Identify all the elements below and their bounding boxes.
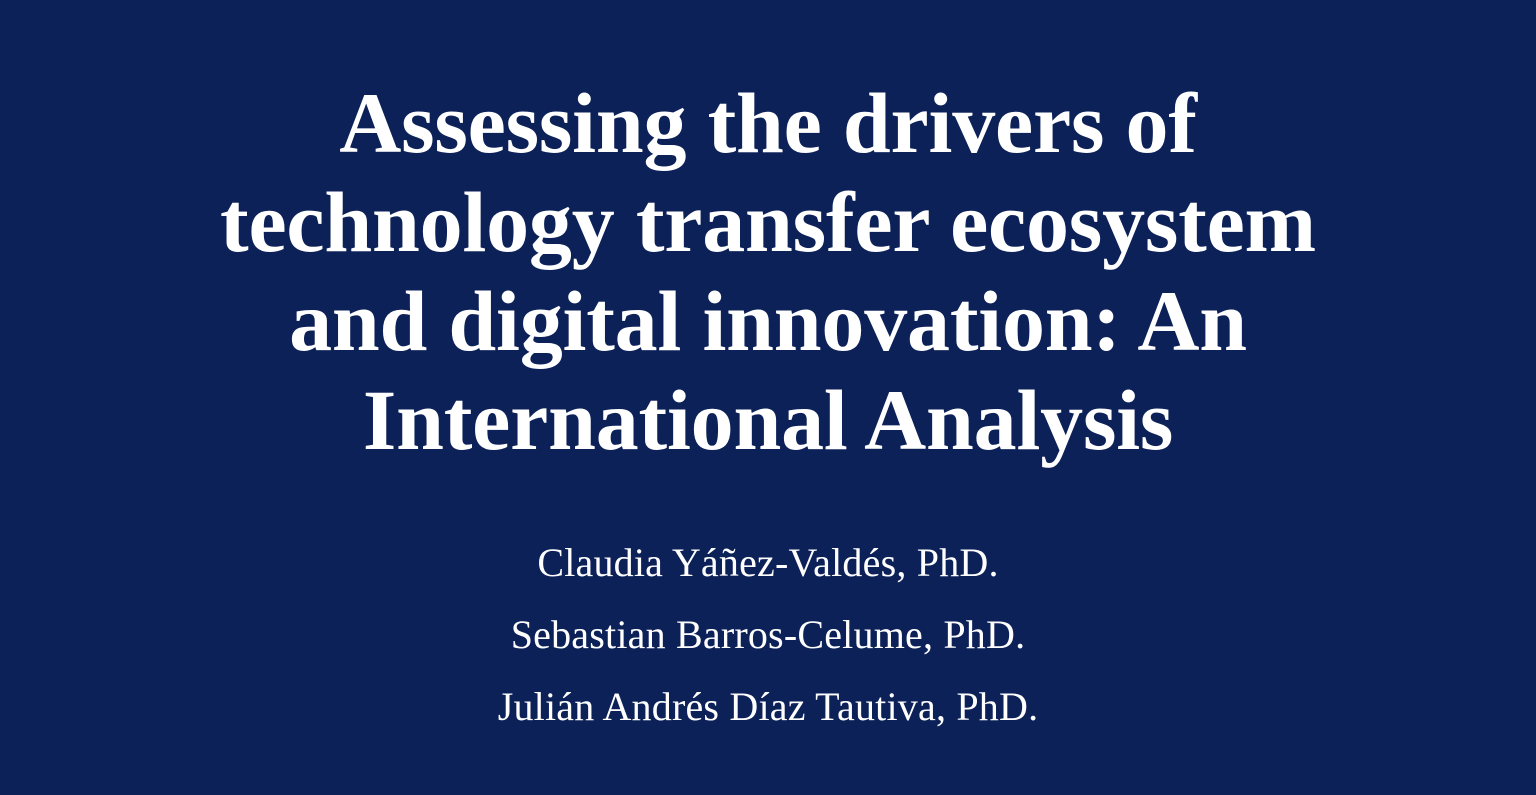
title-line-3: and digital innovation: An <box>0 272 1536 371</box>
author-name-1: Claudia Yáñez-Valdés, PhD. <box>0 527 1536 599</box>
title-slide: Assessing the drivers of technology tran… <box>0 0 1536 795</box>
title-line-1: Assessing the drivers of <box>0 74 1536 173</box>
presentation-title: Assessing the drivers of technology tran… <box>0 74 1536 470</box>
author-name-2: Sebastian Barros-Celume, PhD. <box>0 599 1536 671</box>
author-name-3: Julián Andrés Díaz Tautiva, PhD. <box>0 671 1536 743</box>
title-line-2: technology transfer ecosystem <box>0 173 1536 272</box>
author-list: Claudia Yáñez-Valdés, PhD. Sebastian Bar… <box>0 527 1536 743</box>
title-line-4: International Analysis <box>0 371 1536 470</box>
